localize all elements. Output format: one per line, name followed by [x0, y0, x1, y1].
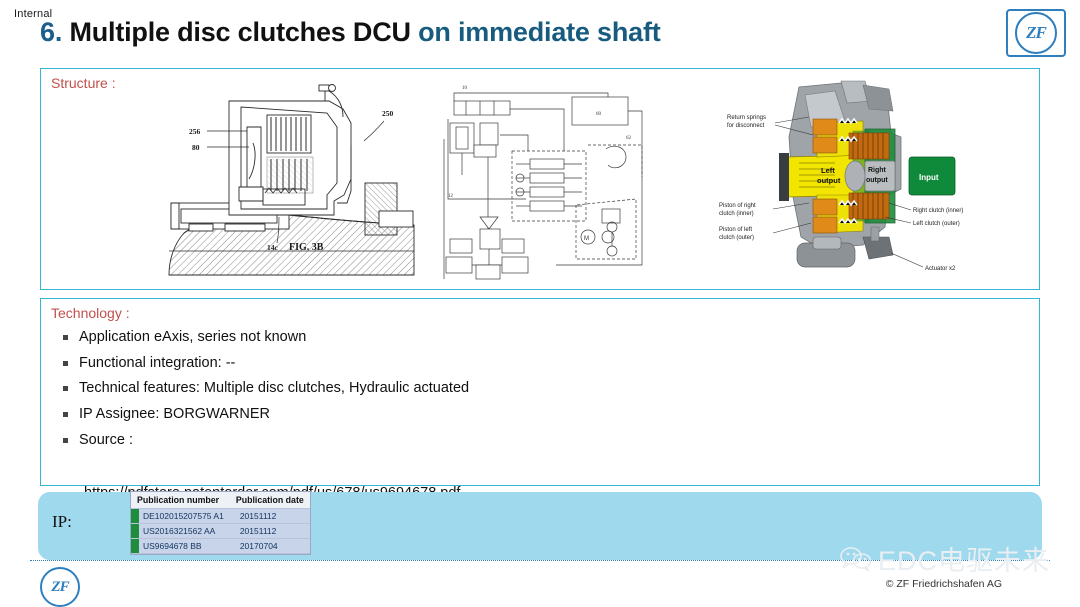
svg-text:10: 10: [462, 86, 468, 91]
cell-publication-number: US9694678 BB: [143, 541, 202, 551]
page-title-accent: on immediate shaft: [418, 17, 660, 47]
cell-publication-number: US2016321562 AA: [143, 526, 215, 536]
table-row[interactable]: US9694678 BB 20170704: [131, 539, 310, 554]
status-flag-icon: [131, 524, 139, 538]
table-header-row: Publication number Publication date: [131, 492, 310, 509]
hydraulic-schematic-drawing: M 10 12: [436, 79, 696, 284]
copyright-text: © ZF Friedrichshafen AG: [886, 578, 1002, 590]
zf-logo-footer: ZF: [40, 567, 80, 607]
cell-publication-date: 20151112: [230, 509, 310, 524]
structure-panel: Structure :: [40, 68, 1040, 290]
footer-divider: [30, 560, 1050, 562]
list-item: Technical features: Multiple disc clutch…: [61, 380, 469, 397]
callout-80: 80: [192, 143, 200, 152]
svg-text:12: 12: [448, 194, 454, 199]
zf-logo-header-text: ZF: [1015, 12, 1057, 54]
label-right-output-line2: output: [866, 177, 888, 184]
callout-return-springs-line2: for disconnect: [727, 123, 765, 129]
column-header-publication-number: Publication number: [131, 492, 230, 509]
label-left-output-line1: Left: [821, 166, 835, 175]
label-right-output-line1: Right: [868, 167, 887, 174]
zf-logo-header: ZF: [1006, 9, 1066, 57]
page-title-number: 6.: [40, 17, 62, 47]
patent-cross-section-drawing: 250 256 80 14c FIG. 3B: [129, 83, 419, 283]
callout-actuator: Actuator x2: [925, 266, 956, 272]
list-item: IP Assignee: BORGWARNER: [61, 406, 469, 423]
callout-piston-right-line2: clutch (inner): [719, 211, 754, 217]
cell-publication-date: 20170704: [230, 539, 310, 554]
svg-text:62: 62: [626, 136, 632, 141]
svg-text:M: M: [584, 236, 589, 242]
figure-hydraulic-schematic: M 10 12: [436, 79, 696, 284]
callout-left-clutch: Left clutch (outer): [913, 221, 960, 227]
cell-publication-date: 20151112: [230, 524, 310, 539]
technology-panel: Technology : Application eAxis, series n…: [40, 298, 1040, 486]
label-left-output-line2: output: [817, 176, 841, 185]
technology-label: Technology :: [51, 305, 130, 321]
list-item: Source :: [61, 432, 469, 449]
figure-caption-3b: FIG. 3B: [289, 242, 324, 253]
figure-patent-cross-section: 250 256 80 14c FIG. 3B: [129, 83, 419, 283]
callout-256: 256: [189, 127, 201, 136]
list-item: Functional integration: --: [61, 355, 469, 372]
page-title-main: Multiple disc clutches DCU: [69, 17, 410, 47]
callout-14c: 14c: [267, 243, 279, 252]
technology-bullet-list: Application eAxis, series not known Func…: [61, 329, 469, 457]
ip-table: Publication number Publication date DE10…: [131, 492, 310, 554]
label-input: Input: [919, 173, 939, 182]
callout-piston-left-line2: clutch (outer): [719, 235, 754, 241]
page-title: 6. Multiple disc clutches DCU on immedia…: [40, 17, 661, 48]
table-row[interactable]: DE102015207575 A1 20151112: [131, 509, 310, 524]
ip-panel: IP: Publication number Publication date …: [38, 492, 1042, 560]
callout-return-springs-line1: Return springs: [727, 115, 766, 121]
callout-right-clutch: Right clutch (inner): [913, 208, 963, 214]
status-flag-icon: [131, 539, 139, 553]
table-row[interactable]: US2016321562 AA 20151112: [131, 524, 310, 539]
column-header-publication-date: Publication date: [230, 492, 310, 509]
ip-label: IP:: [52, 512, 72, 532]
zf-logo-footer-text: ZF: [51, 579, 68, 596]
list-item: Application eAxis, series not known: [61, 329, 469, 346]
figure-clutch-cutaway: Left output Right output Input Return sp…: [713, 77, 973, 282]
svg-text:60: 60: [596, 112, 602, 117]
clutch-cutaway-drawing: Left output Right output Input Return sp…: [713, 77, 973, 282]
cell-publication-number: DE102015207575 A1: [143, 511, 224, 521]
callout-piston-right-line1: Piston of right: [719, 203, 756, 209]
structure-label: Structure :: [51, 75, 116, 91]
callout-250: 250: [382, 109, 394, 118]
status-flag-icon: [131, 509, 139, 523]
callout-piston-left-line1: Piston of left: [719, 227, 752, 233]
